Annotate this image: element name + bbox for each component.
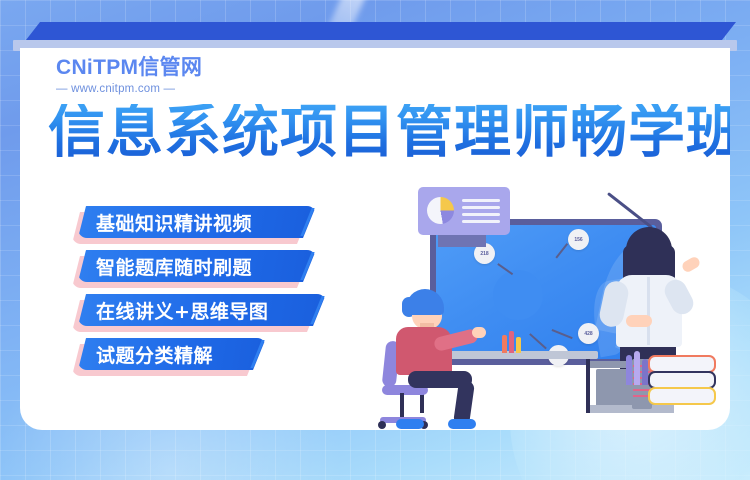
teacher-hand xyxy=(680,255,701,274)
pen-icon xyxy=(509,331,514,353)
feature-tag-label: 智能题库随时刷题 xyxy=(78,253,274,280)
student-shoe xyxy=(396,419,424,429)
feature-tag-label: 试题分类精解 xyxy=(78,341,235,368)
page-title: 信息系统项目管理师畅学班 信息系统项目管理师畅学班 xyxy=(48,104,708,161)
pen-icon xyxy=(516,337,521,353)
text-line xyxy=(462,220,500,223)
donut-chart-hole xyxy=(493,270,543,320)
desk-leg xyxy=(586,359,590,413)
feature-tag-list: 基础知识精讲视频 智能题库随时刷题 在线讲义+思维导图 xyxy=(78,206,326,382)
pencil-icon xyxy=(634,351,640,385)
text-line xyxy=(462,213,500,216)
student-shoe xyxy=(448,419,476,429)
chair-pole xyxy=(400,393,404,419)
pen-icon xyxy=(502,335,507,353)
feature-tag-body[interactable]: 在线讲义+思维导图 xyxy=(78,294,326,326)
feature-tag-label: 基础知识精讲视频 xyxy=(78,209,274,236)
brand-logo-text: CNiTPM信管网 xyxy=(56,57,202,78)
presentation-card xyxy=(418,187,510,235)
feature-tag[interactable]: 试题分类精解 xyxy=(78,338,266,370)
chart-value-bubble: 156 xyxy=(568,229,589,250)
classroom-illustration: 218 156 428 407 xyxy=(390,183,730,430)
card-top-dark-bar xyxy=(26,22,736,40)
pencil-icon xyxy=(626,355,632,385)
brand-logo: CNiTPM信管网 — www.cnitpm.com — xyxy=(56,57,202,96)
student-hair xyxy=(406,289,444,315)
feature-tag-body[interactable]: 基础知识精讲视频 xyxy=(78,206,316,238)
book xyxy=(648,387,716,405)
feature-tag-label: 在线讲义+思维导图 xyxy=(78,297,290,324)
chart-value-bubble: 428 xyxy=(578,323,599,344)
student-hand xyxy=(472,327,486,338)
student-shirt xyxy=(396,327,452,375)
page-title-text: 信息系统项目管理师畅学班 xyxy=(48,104,730,161)
teacher-figure xyxy=(608,227,694,371)
feature-tag[interactable]: 智能题库随时刷题 xyxy=(78,250,316,282)
chair-wheel xyxy=(378,421,386,429)
promo-poster: CNiTPM信管网 — www.cnitpm.com — 信息系统项目管理师畅学… xyxy=(0,0,750,480)
content-card: CNiTPM信管网 — www.cnitpm.com — 信息系统项目管理师畅学… xyxy=(20,48,730,430)
text-line xyxy=(462,199,500,202)
feature-tag[interactable]: 在线讲义+思维导图 xyxy=(78,294,326,326)
student-figure xyxy=(388,289,498,417)
feature-tag[interactable]: 基础知识精讲视频 xyxy=(78,206,316,238)
teacher-hand xyxy=(626,315,652,327)
feature-tag-body[interactable]: 智能题库随时刷题 xyxy=(78,250,316,282)
teacher-blouse-placket xyxy=(647,277,650,345)
book-stack xyxy=(648,355,714,409)
desk-pen-group xyxy=(502,331,528,353)
feature-tag-body[interactable]: 试题分类精解 xyxy=(78,338,266,370)
text-line xyxy=(462,206,500,209)
pie-chart-icon xyxy=(427,197,454,224)
brand-logo-url: — www.cnitpm.com — xyxy=(56,84,202,96)
